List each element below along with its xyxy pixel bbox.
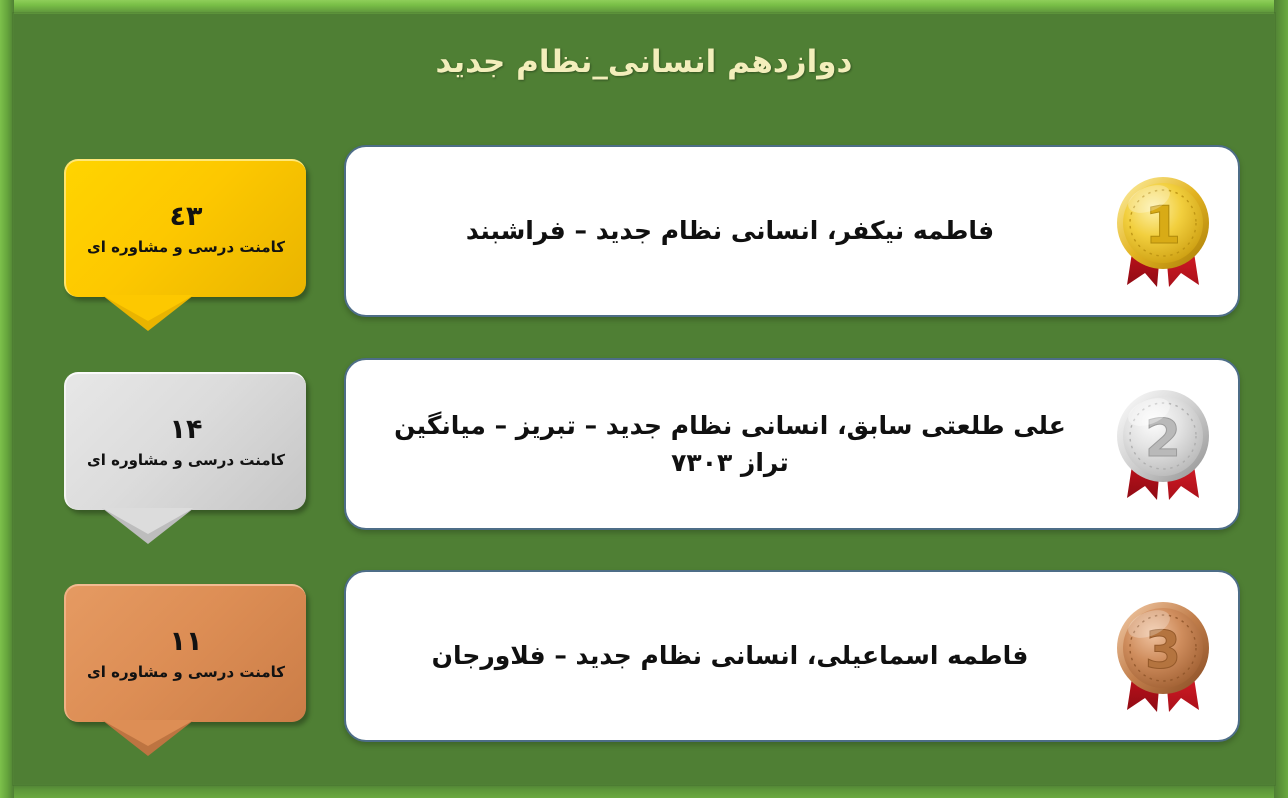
leaderboard-row: ۱۱ کامنت درسی و مشاوره ای: [0, 570, 1288, 745]
rank-card-1[interactable]: 1 فاطمه نیکفر، انسانی نظام جدید – فراشبن…: [344, 145, 1240, 317]
leaderboard-row: ٤٣ کامنت درسی و مشاوره ای: [0, 145, 1288, 320]
rank-card-3[interactable]: 3 فاطمه اسماعیلی، انسانی نظام جدید – فلا…: [344, 570, 1240, 742]
medal-slot: 2: [1088, 360, 1238, 528]
badge-tail-icon: [102, 295, 194, 331]
comment-badge-2[interactable]: ۱۴ کامنت درسی و مشاوره ای: [64, 372, 306, 510]
badge-count: ۱۴: [170, 415, 203, 445]
slide-root: دوازدهم انسانی_نظام جدید ٤٣ کامنت درسی و…: [0, 0, 1288, 798]
entry-text: فاطمه اسماعیلی، انسانی نظام جدید – فلاور…: [346, 637, 1088, 675]
page-title: دوازدهم انسانی_نظام جدید: [0, 44, 1288, 80]
badge-caption: کامنت درسی و مشاوره ای: [87, 238, 285, 256]
bronze-medal-icon: 3: [1109, 594, 1217, 718]
badge-body: ۱۱ کامنت درسی و مشاوره ای: [64, 584, 306, 722]
badge-caption: کامنت درسی و مشاوره ای: [87, 451, 285, 469]
badge-tail-icon: [102, 720, 194, 756]
comment-badge-1[interactable]: ٤٣ کامنت درسی و مشاوره ای: [64, 159, 306, 297]
badge-count: ٤٣: [170, 202, 203, 232]
badge-count: ۱۱: [170, 627, 203, 657]
comment-badge-3[interactable]: ۱۱ کامنت درسی و مشاوره ای: [64, 584, 306, 722]
medal-slot: 3: [1088, 572, 1238, 740]
medal-slot: 1: [1088, 147, 1238, 315]
leaderboard-row: ۱۴ کامنت درسی و مشاوره ای: [0, 358, 1288, 533]
badge-body: ٤٣ کامنت درسی و مشاوره ای: [64, 159, 306, 297]
frame-edge-bottom: [0, 784, 1288, 798]
rank-card-2[interactable]: 2 علی طلعتی سابق، انسانی نظام جدید – تبر…: [344, 358, 1240, 530]
entry-text: علی طلعتی سابق، انسانی نظام جدید – تبریز…: [346, 407, 1088, 482]
entry-text: فاطمه نیکفر، انسانی نظام جدید – فراشبند: [346, 212, 1088, 250]
gold-medal-icon: 1: [1109, 169, 1217, 293]
badge-tail-icon: [102, 508, 194, 544]
silver-medal-icon: 2: [1109, 382, 1217, 506]
badge-caption: کامنت درسی و مشاوره ای: [87, 663, 285, 681]
frame-edge-top: [0, 0, 1288, 14]
badge-body: ۱۴ کامنت درسی و مشاوره ای: [64, 372, 306, 510]
